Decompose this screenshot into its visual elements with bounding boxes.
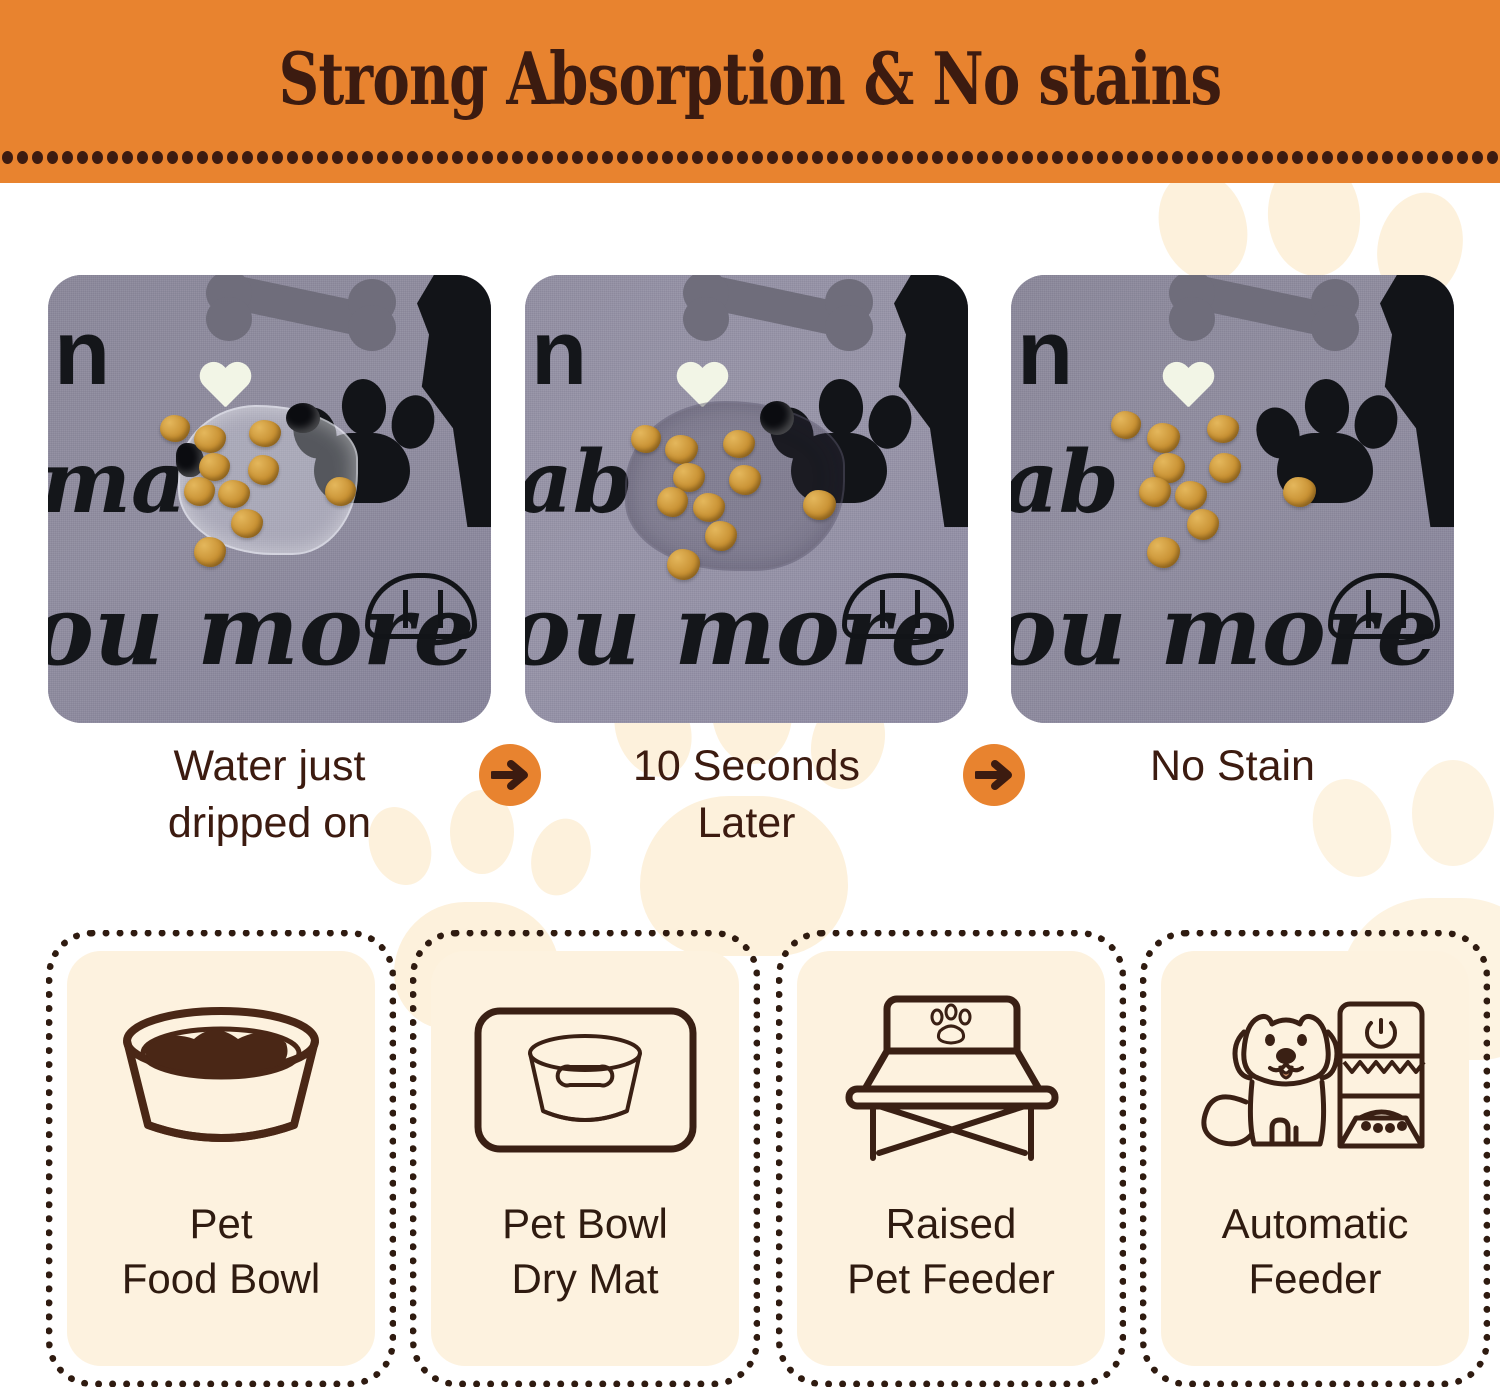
- feature-card-pet-food-bowl[interactable]: Pet Food Bowl: [46, 930, 396, 1387]
- feature-card-label: Pet Food Bowl: [122, 1197, 320, 1306]
- pet-mat-surface: [1011, 275, 1454, 723]
- demo-photo-panel-3: n ab ou more: [1011, 275, 1454, 723]
- label-line: Automatic: [1222, 1197, 1409, 1252]
- page-title: Strong Absorption & No stains: [165, 36, 1335, 121]
- feature-card-raised-pet-feeder[interactable]: Raised Pet Feeder: [776, 930, 1126, 1387]
- caption-line: Later: [525, 795, 968, 852]
- feature-card-pet-bowl-dry-mat[interactable]: Pet Bowl Dry Mat: [410, 930, 760, 1387]
- pet-bowl-dry-mat-icon: [470, 985, 700, 1175]
- pet-food-bowl-icon: [106, 985, 336, 1175]
- water-gloss: [760, 401, 794, 435]
- caption-line: 10 Seconds: [525, 738, 968, 795]
- demo-photo-panel-1: n ma ou more: [48, 275, 491, 723]
- caption-line: dripped on: [48, 795, 491, 852]
- label-line: Pet Bowl: [502, 1197, 668, 1252]
- header-banner: Strong Absorption & No stains: [0, 0, 1500, 183]
- demo-caption-3: No Stain: [1011, 738, 1454, 795]
- absorption-demo-row: n ma ou more: [0, 275, 1500, 725]
- feature-card-label: Pet Bowl Dry Mat: [502, 1197, 668, 1306]
- water-gloss: [286, 403, 320, 433]
- feature-card-label: Automatic Feeder: [1222, 1197, 1409, 1306]
- label-line: Dry Mat: [502, 1252, 668, 1307]
- feature-cards-row: Pet Food Bowl Pet Bowl Dry Mat: [0, 930, 1500, 1390]
- label-line: Food Bowl: [122, 1252, 320, 1307]
- banner-dotted-divider: [0, 151, 1500, 165]
- caption-line: No Stain: [1011, 738, 1454, 795]
- label-line: Pet Feeder: [847, 1252, 1055, 1307]
- feature-card-label: Raised Pet Feeder: [847, 1197, 1055, 1306]
- demo-caption-2: 10 Seconds Later: [525, 738, 968, 852]
- automatic-feeder-icon: [1200, 985, 1430, 1175]
- label-line: Raised: [847, 1197, 1055, 1252]
- feature-card-automatic-feeder[interactable]: Automatic Feeder: [1140, 930, 1490, 1387]
- raised-pet-feeder-icon: [836, 985, 1066, 1175]
- demo-caption-1: Water just dripped on: [48, 738, 491, 852]
- caption-line: Water just: [48, 738, 491, 795]
- label-line: Pet: [122, 1197, 320, 1252]
- demo-photo-panel-2: n ab ou more: [525, 275, 968, 723]
- label-line: Feeder: [1222, 1252, 1409, 1307]
